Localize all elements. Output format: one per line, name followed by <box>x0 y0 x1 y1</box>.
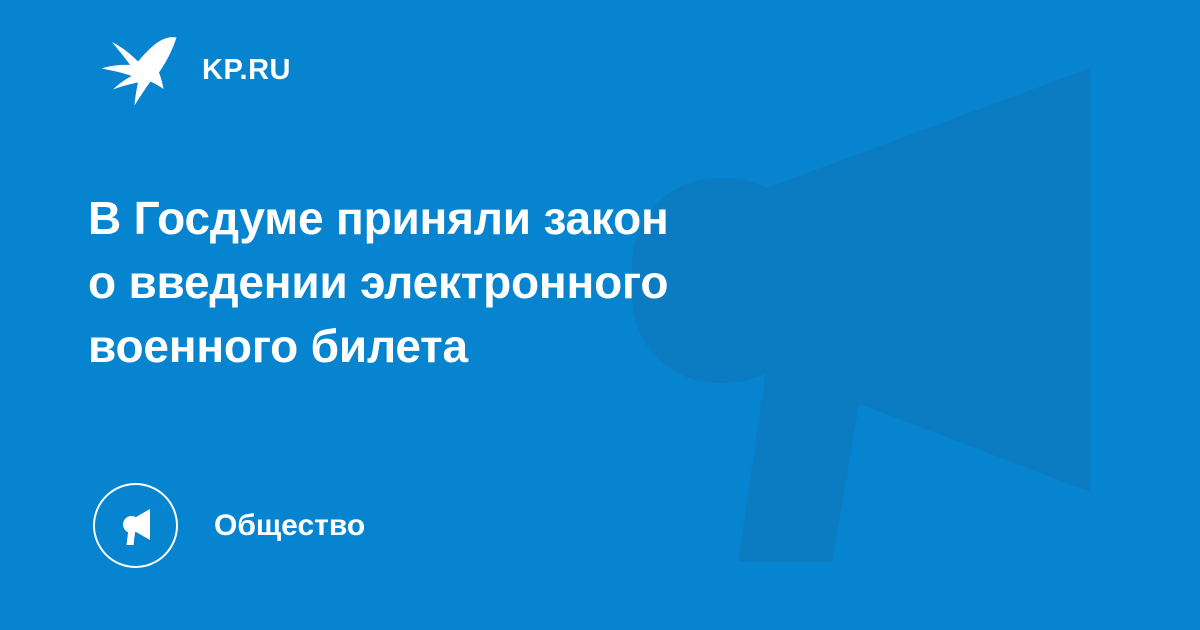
rubric-badge[interactable]: Общество <box>93 483 365 568</box>
headline-line: о введении электронного <box>88 256 668 308</box>
megaphone-icon <box>114 504 158 548</box>
social-share-card: KP.RU В Госдуме приняли закон о введении… <box>0 0 1200 630</box>
swallow-bird-icon <box>100 34 178 106</box>
headline-line: военного билета <box>88 320 468 372</box>
page-title: В Госдуме приняли закон о введении элект… <box>88 186 888 378</box>
rubric-icon-circle <box>93 483 178 568</box>
rubric-label: Общество <box>214 511 365 541</box>
headline-line: В Госдуме приняли закон <box>88 192 669 244</box>
brand-logo[interactable]: KP.RU <box>100 34 291 106</box>
brand-name: KP.RU <box>202 56 291 85</box>
